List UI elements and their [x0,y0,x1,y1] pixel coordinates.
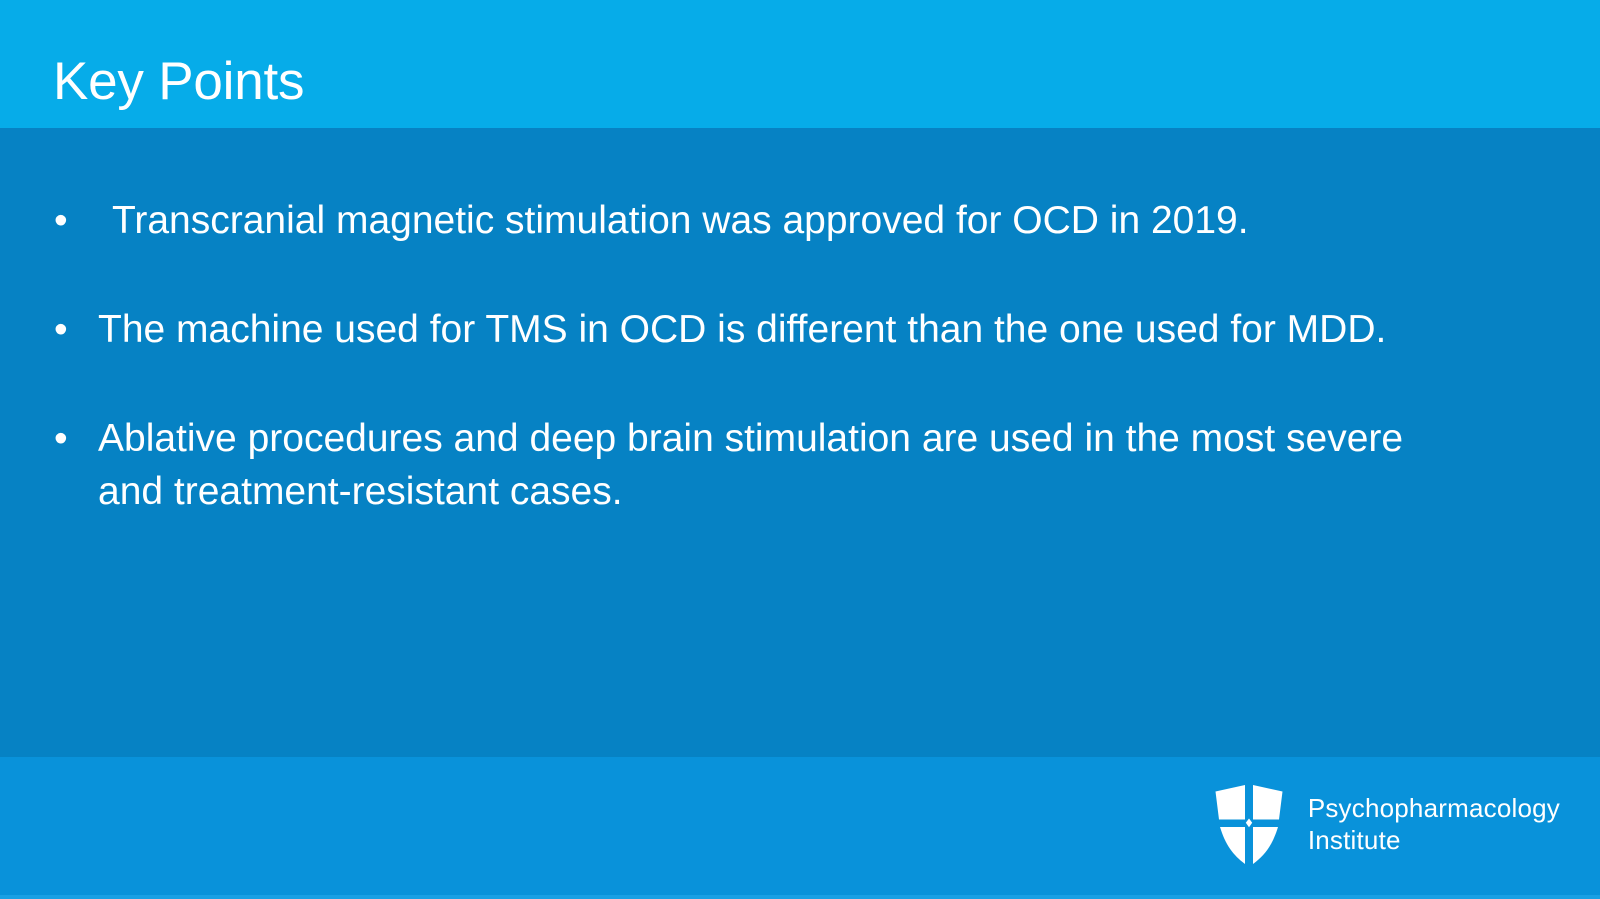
list-item: • Ablative procedures and deep brain sti… [50,412,1540,518]
brand-wordmark: Psychopharmacology Institute [1308,793,1560,856]
slide-body: • Transcranial magnetic stimulation was … [0,128,1600,757]
slide-header: Key Points [0,0,1600,128]
list-item: • The machine used for TMS in OCD is dif… [50,303,1540,356]
bullet-text: The machine used for TMS in OCD is diffe… [98,303,1483,356]
brand-logo: Psychopharmacology Institute [1212,782,1560,868]
presentation-slide: Key Points • Transcranial magnetic stimu… [0,0,1600,899]
bullet-marker-icon: • [50,194,98,247]
brand-line-secondary: Institute [1308,825,1560,857]
bullet-marker-icon: • [50,412,98,465]
footer-baseline-divider [0,895,1600,899]
bullet-list: • Transcranial magnetic stimulation was … [50,194,1540,518]
brand-line-primary: Psychopharmacology [1308,793,1560,825]
bullet-marker-icon: • [50,303,98,356]
bullet-text: Transcranial magnetic stimulation was ap… [98,194,1468,247]
page-title: Key Points [53,55,304,108]
list-item: • Transcranial magnetic stimulation was … [50,194,1540,247]
slide-footer: Psychopharmacology Institute [0,757,1600,899]
shield-icon [1212,782,1286,868]
bullet-text: Ablative procedures and deep brain stimu… [98,412,1483,518]
